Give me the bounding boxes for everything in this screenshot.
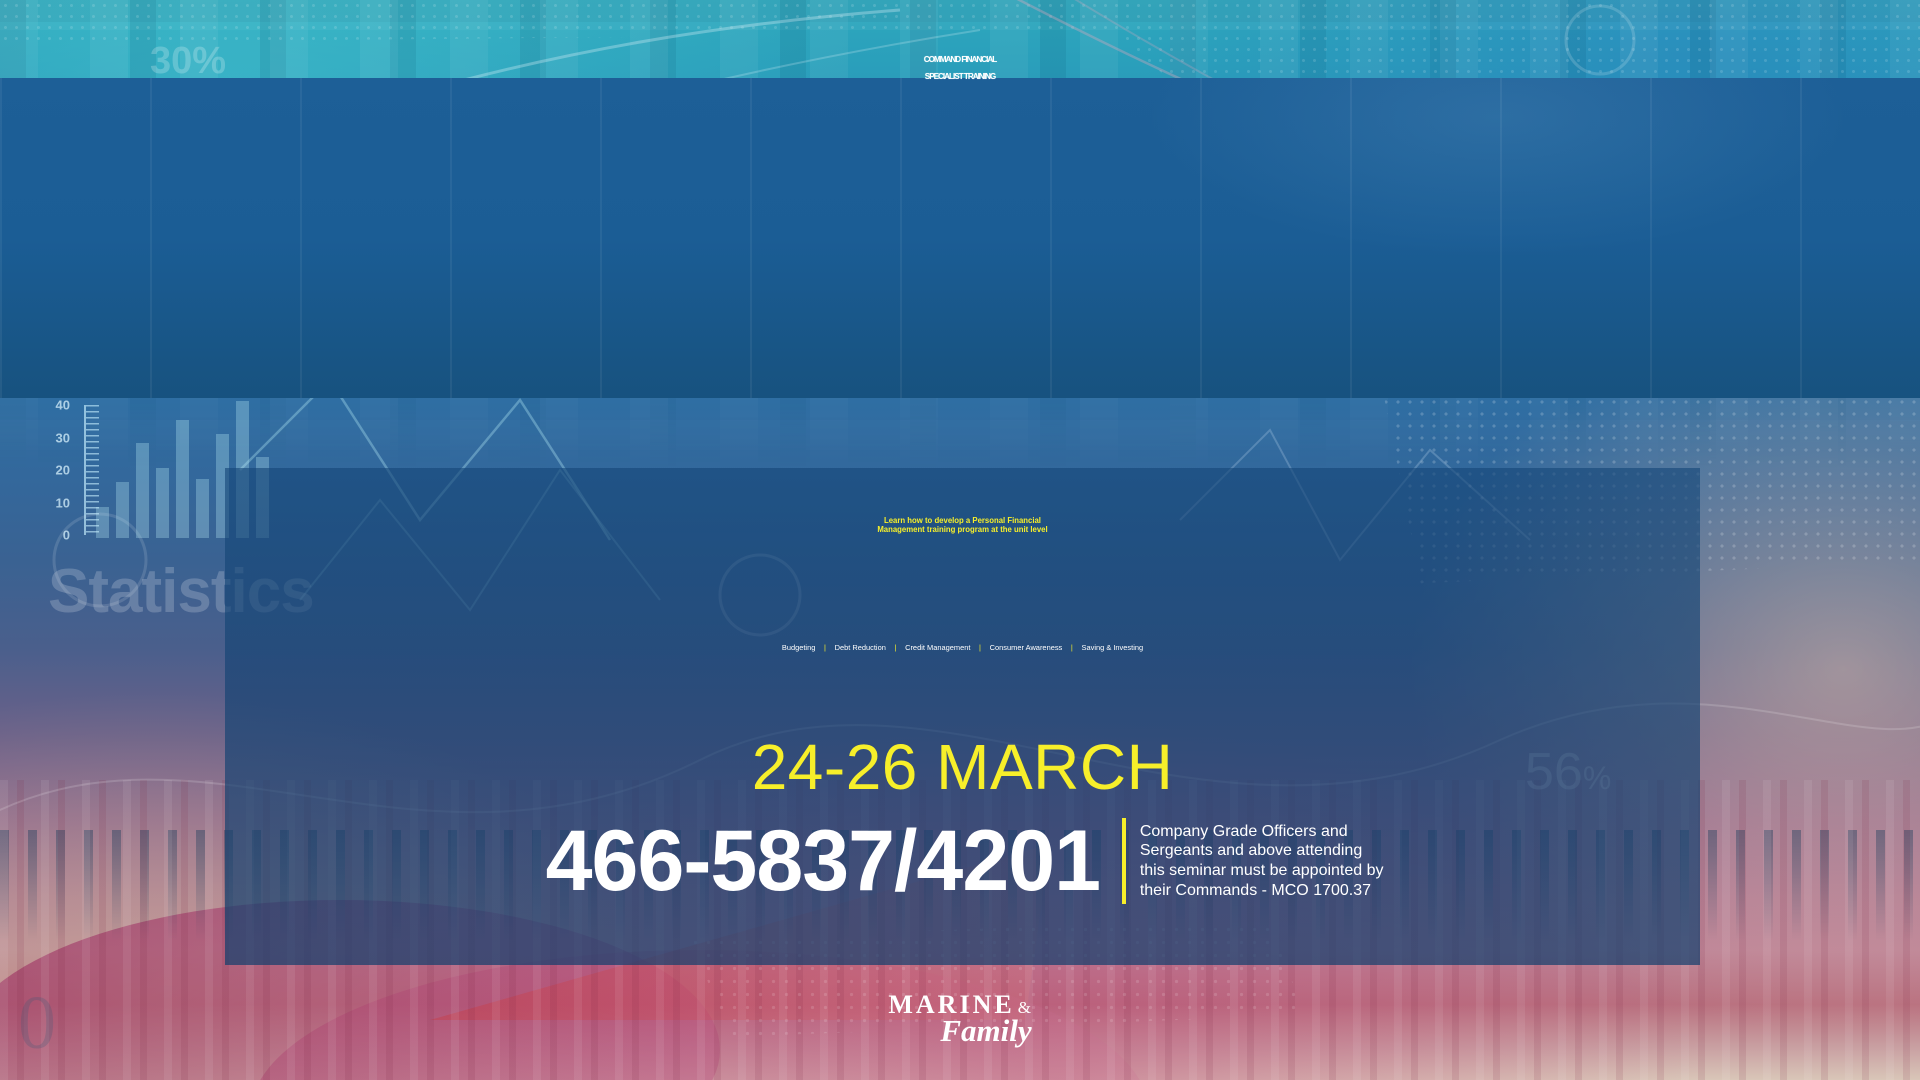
axis-ruler (84, 405, 86, 535)
event-date: 24-26 MARCH (225, 730, 1700, 804)
topic-separator: | (886, 643, 905, 652)
axis-tick-0: 0 (63, 528, 70, 543)
contact-row: 466-5837/4201 Company Grade Officers and… (225, 818, 1700, 904)
zero-watermark: 0 (18, 980, 56, 1067)
headline: Learn how to develop a Personal Financia… (247, 516, 1678, 534)
topic-item: Credit Management (905, 643, 970, 652)
headline-line-1: Learn how to develop a Personal Financia… (247, 516, 1678, 525)
topic-separator: | (1062, 643, 1081, 652)
topic-separator: | (815, 643, 834, 652)
axis-tick-10: 10 (56, 495, 70, 510)
headline-line-2: Management training program at the unit … (247, 525, 1678, 534)
topics-list: Budgeting|Debt Reduction|Credit Manageme… (255, 643, 1671, 652)
title-band (0, 78, 1920, 398)
title-line-1: COMMAND FINANCIAL (0, 56, 1920, 63)
topic-item: Consumer Awareness (990, 643, 1063, 652)
topic-item: Saving & Investing (1082, 643, 1144, 652)
poster-canvas: 40 30 20 10 0 Statistics 30% 0 56% COMMA… (0, 0, 1920, 1080)
topic-separator: | (970, 643, 989, 652)
topic-item: Debt Reduction (835, 643, 886, 652)
title-line-2: SPECIALIST TRAINING (0, 73, 1920, 80)
axis-tick-20: 20 (56, 463, 70, 478)
eligibility-note: Company Grade Officers and Sergeants and… (1140, 822, 1385, 900)
axis-tick-40: 40 (56, 398, 70, 413)
vertical-divider (1122, 818, 1126, 904)
poster-title: COMMAND FINANCIAL SPECIALIST TRAINING (0, 56, 1920, 80)
topic-item: Budgeting (782, 643, 816, 652)
phone-number[interactable]: 466-5837/4201 (546, 818, 1100, 904)
background-chart-axis: 40 30 20 10 0 (40, 405, 100, 535)
axis-tick-30: 30 (56, 430, 70, 445)
content-panel: Learn how to develop a Personal Financia… (225, 468, 1700, 965)
